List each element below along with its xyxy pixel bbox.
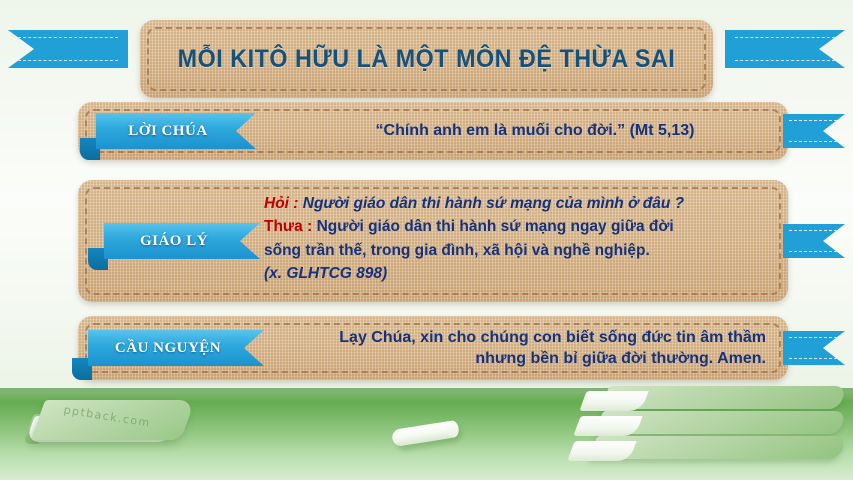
section-cau-nguyen: CẦU NGUYỆN Lạy Chúa, xin cho chúng con b… xyxy=(0,316,853,380)
ribbon-stitch-left xyxy=(18,37,118,61)
giao-ly-reference: (x. GLHTCG 898) xyxy=(264,264,764,284)
section-giao-ly: GIÁO LÝ Hỏi : Người giáo dân thi hành sứ… xyxy=(0,180,853,302)
ribbon-tail-left xyxy=(8,30,128,68)
cau-nguyen-tag[interactable]: CẦU NGUYỆN xyxy=(88,330,264,366)
giao-ly-answer-line-2: sống trần thế, trong gia đình, xã hội và… xyxy=(264,241,764,261)
page-title: MỖI KITÔ HỮU LÀ MỘT MÔN ĐỆ THỪA SAI xyxy=(160,20,693,98)
giao-ly-question: Người giáo dân thi hành sứ mạng của mình… xyxy=(303,195,684,212)
giao-ly-text: Hỏi : Người giáo dân thi hành sứ mạng củ… xyxy=(264,194,764,288)
bottom-scene: pptback.com xyxy=(0,388,853,480)
giao-ly-answer-label: Thưa : xyxy=(264,218,312,235)
slide-canvas: MỖI KITÔ HỮU LÀ MỘT MÔN ĐỆ THỪA SAI LỜI … xyxy=(0,0,853,480)
book-flat-icon: pptback.com xyxy=(30,400,190,458)
cau-nguyen-ribbon-tail-icon xyxy=(783,331,845,365)
giao-ly-question-line: Hỏi : Người giáo dân thi hành sứ mạng củ… xyxy=(264,194,764,214)
giao-ly-question-label: Hỏi : xyxy=(264,195,298,212)
cau-nguyen-text: Lạy Chúa, xin cho chúng con biết sống đứ… xyxy=(286,316,766,380)
giao-ly-answer-line-1: Thưa : Người giáo dân thi hành sứ mạng n… xyxy=(264,217,764,237)
giao-ly-answer-part-2: sống trần thế, trong gia đình, xã hội và… xyxy=(264,242,650,259)
loi-chua-tag[interactable]: LỜI CHÚA xyxy=(96,113,256,149)
loi-chua-tail-stitch xyxy=(789,120,837,142)
cau-nguyen-line-2: nhưng bền bỉ giữa đời thường. Amen. xyxy=(475,348,766,369)
title-panel: MỖI KITÔ HỮU LÀ MỘT MÔN ĐỆ THỪA SAI xyxy=(140,20,713,98)
giao-ly-ribbon-tail-icon xyxy=(783,224,845,258)
loi-chua-ribbon-tail-icon xyxy=(783,114,845,148)
stacked-book-3-pages xyxy=(567,441,636,461)
stacked-book-2 xyxy=(577,411,821,438)
ribbon-tail-right xyxy=(725,30,845,68)
cau-nguyen-tail-stitch xyxy=(789,337,837,359)
stacked-book-1-pages xyxy=(579,391,648,411)
stacked-book-3 xyxy=(571,436,821,463)
cau-nguyen-line-1: Lạy Chúa, xin cho chúng con biết sống đứ… xyxy=(339,327,766,348)
book-stack-icon xyxy=(535,386,825,464)
stacked-book-2-pages xyxy=(573,416,642,436)
stacked-book-1 xyxy=(583,386,821,413)
loi-chua-text: “Chính anh em là muối cho đời.” (Mt 5,13… xyxy=(300,102,770,160)
giao-ly-tail-stitch xyxy=(789,230,837,252)
section-loi-chua: LỜI CHÚA “Chính anh em là muối cho đời.”… xyxy=(0,102,853,160)
giao-ly-tag[interactable]: GIÁO LÝ xyxy=(104,223,260,259)
watermark: pptback.com xyxy=(63,403,152,430)
giao-ly-answer-part-1: Người giáo dân thi hành sứ mạng ngay giữ… xyxy=(317,218,674,235)
title-ribbon: MỖI KITÔ HỮU LÀ MỘT MÔN ĐỆ THỪA SAI xyxy=(0,16,853,82)
book-cover: pptback.com xyxy=(31,400,196,440)
ribbon-stitch-right xyxy=(735,37,835,61)
